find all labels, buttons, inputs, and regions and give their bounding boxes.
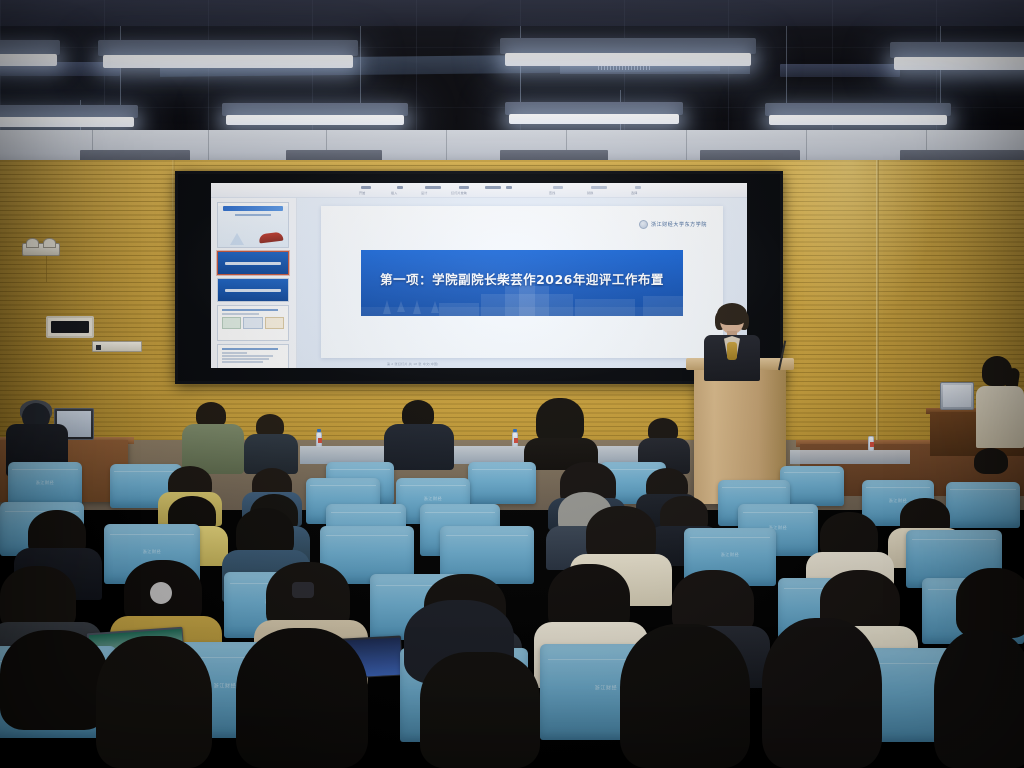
banner-foreground: [361, 307, 683, 316]
institution-logo: 浙江财经大学东方学院: [639, 220, 707, 229]
hair-clip-icon: [292, 582, 314, 598]
seat[interactable]: [468, 462, 536, 504]
panel-table-right: [790, 450, 910, 464]
thumb-bullet-slide: [218, 345, 288, 368]
recorder-torso: [976, 386, 1024, 448]
light-housing: [505, 102, 683, 115]
bottle-cap: [513, 429, 517, 432]
ceiling-light-fixture: [0, 105, 138, 127]
light-tube: [505, 53, 751, 66]
air-vent-icon: [46, 316, 94, 338]
wall-cable: [46, 256, 47, 282]
current-slide[interactable]: 浙江财经大学东方学院: [321, 206, 723, 358]
ceiling-light-fixture: [765, 103, 951, 125]
lamp-rod: [360, 26, 361, 112]
powerpoint-status-bar: 第 2 张幻灯片,共 18 张 中文(中国): [387, 362, 439, 366]
panel-member: [528, 398, 594, 468]
seat[interactable]: [946, 482, 1020, 528]
ribbon-tab-label[interactable]: 设计: [421, 191, 427, 195]
ceiling-light-fixture: [500, 38, 756, 66]
ribbon-action-label[interactable]: 选择: [631, 191, 637, 195]
water-bottle: [316, 432, 322, 447]
light-housing: [890, 42, 1024, 58]
bottle-cap: [317, 429, 321, 432]
ceiling-vent-right: [780, 64, 900, 77]
logo-text: 浙江财经大学东方学院: [651, 221, 707, 228]
emergency-light-icon: [22, 243, 60, 256]
speaker-at-podium: [700, 306, 764, 380]
light-tube: [0, 117, 134, 127]
water-bottle: [868, 436, 874, 451]
light-tube: [103, 55, 353, 68]
light-tube: [769, 115, 948, 125]
ribbon-action-label[interactable]: 替换: [587, 191, 593, 195]
ribbon-action-label[interactable]: 查找: [549, 191, 555, 195]
water-bottle: [512, 432, 518, 447]
ribbon-tab-label[interactable]: 开始: [359, 191, 365, 195]
thumb-section-slide: [218, 252, 288, 274]
head-back: [96, 636, 212, 768]
hair: [974, 448, 1008, 474]
hair-clip-icon: [150, 582, 172, 604]
wall-control-panel[interactable]: [92, 341, 142, 352]
thumb-title-slide: [218, 206, 288, 247]
powerpoint-ribbon[interactable]: 开始 插入 设计 幻灯片放映 查找 替换 选择: [211, 183, 747, 198]
light-tube: [894, 57, 1024, 70]
hair: [982, 356, 1012, 386]
slide-title-banner: 第一项：学院副院长柴芸作2026年迎评工作布置: [361, 250, 683, 316]
projection-screen: 开始 插入 设计 幻灯片放映 查找 替换 选择: [175, 171, 783, 384]
ceiling-light-fixture: [0, 40, 60, 66]
scarf: [727, 342, 737, 360]
light-housing: [98, 40, 358, 56]
light-housing: [222, 103, 408, 116]
ribbon-tab-label[interactable]: 幻灯片放映: [451, 191, 467, 195]
slide-canvas-area[interactable]: 浙江财经大学东方学院: [297, 198, 747, 368]
slide-thumbnail-selected[interactable]: [217, 251, 289, 275]
torso: [384, 424, 454, 470]
light-tube: [0, 54, 57, 66]
standing-person-left-2: [246, 414, 296, 470]
lamp-rod: [786, 26, 787, 112]
light-housing: [0, 40, 60, 55]
slide-title-text: 第一项：学院副院长柴芸作2026年迎评工作布置: [361, 269, 683, 288]
slide-thumbnail[interactable]: [217, 278, 289, 302]
head-back: [620, 624, 750, 768]
light-tube: [509, 114, 680, 124]
ceiling-light-fixture: [890, 42, 1024, 70]
logo-mark-icon: [639, 220, 648, 229]
ribbon-tab-label[interactable]: 插入: [391, 191, 397, 195]
ceiling-light-fixture: [222, 103, 408, 125]
ceiling-light-fixture: [505, 102, 683, 124]
panel-member: [390, 400, 448, 468]
wall-seam: [876, 160, 879, 450]
thumb-section-slide: [218, 279, 288, 301]
head-back: [956, 568, 1024, 638]
thumb-table-slide: [218, 306, 288, 340]
head-back: [934, 630, 1024, 768]
auditorium-scene: 开始 插入 设计 幻灯片放映 查找 替换 选择: [0, 0, 1024, 768]
standing-person-left: [186, 402, 244, 472]
recorder-right: [976, 356, 1024, 452]
head-back: [762, 618, 882, 768]
light-housing: [500, 38, 756, 54]
head-back: [420, 652, 540, 768]
light-housing: [765, 103, 951, 116]
laptop-recorder-right[interactable]: [940, 382, 974, 410]
light-tube: [226, 115, 405, 125]
slide-thumbnail[interactable]: [217, 305, 289, 341]
slide-thumbnail[interactable]: [217, 344, 289, 368]
head-back: [0, 630, 108, 730]
head-back: [236, 628, 368, 768]
slide-thumbnail[interactable]: [217, 202, 289, 248]
light-housing: [0, 105, 138, 118]
ceiling-light-fixture: [98, 40, 358, 68]
hair: [717, 303, 747, 325]
slide-thumbnail-pane[interactable]: [211, 198, 297, 368]
projected-desktop[interactable]: 开始 插入 设计 幻灯片放映 查找 替换 选择: [211, 183, 747, 368]
